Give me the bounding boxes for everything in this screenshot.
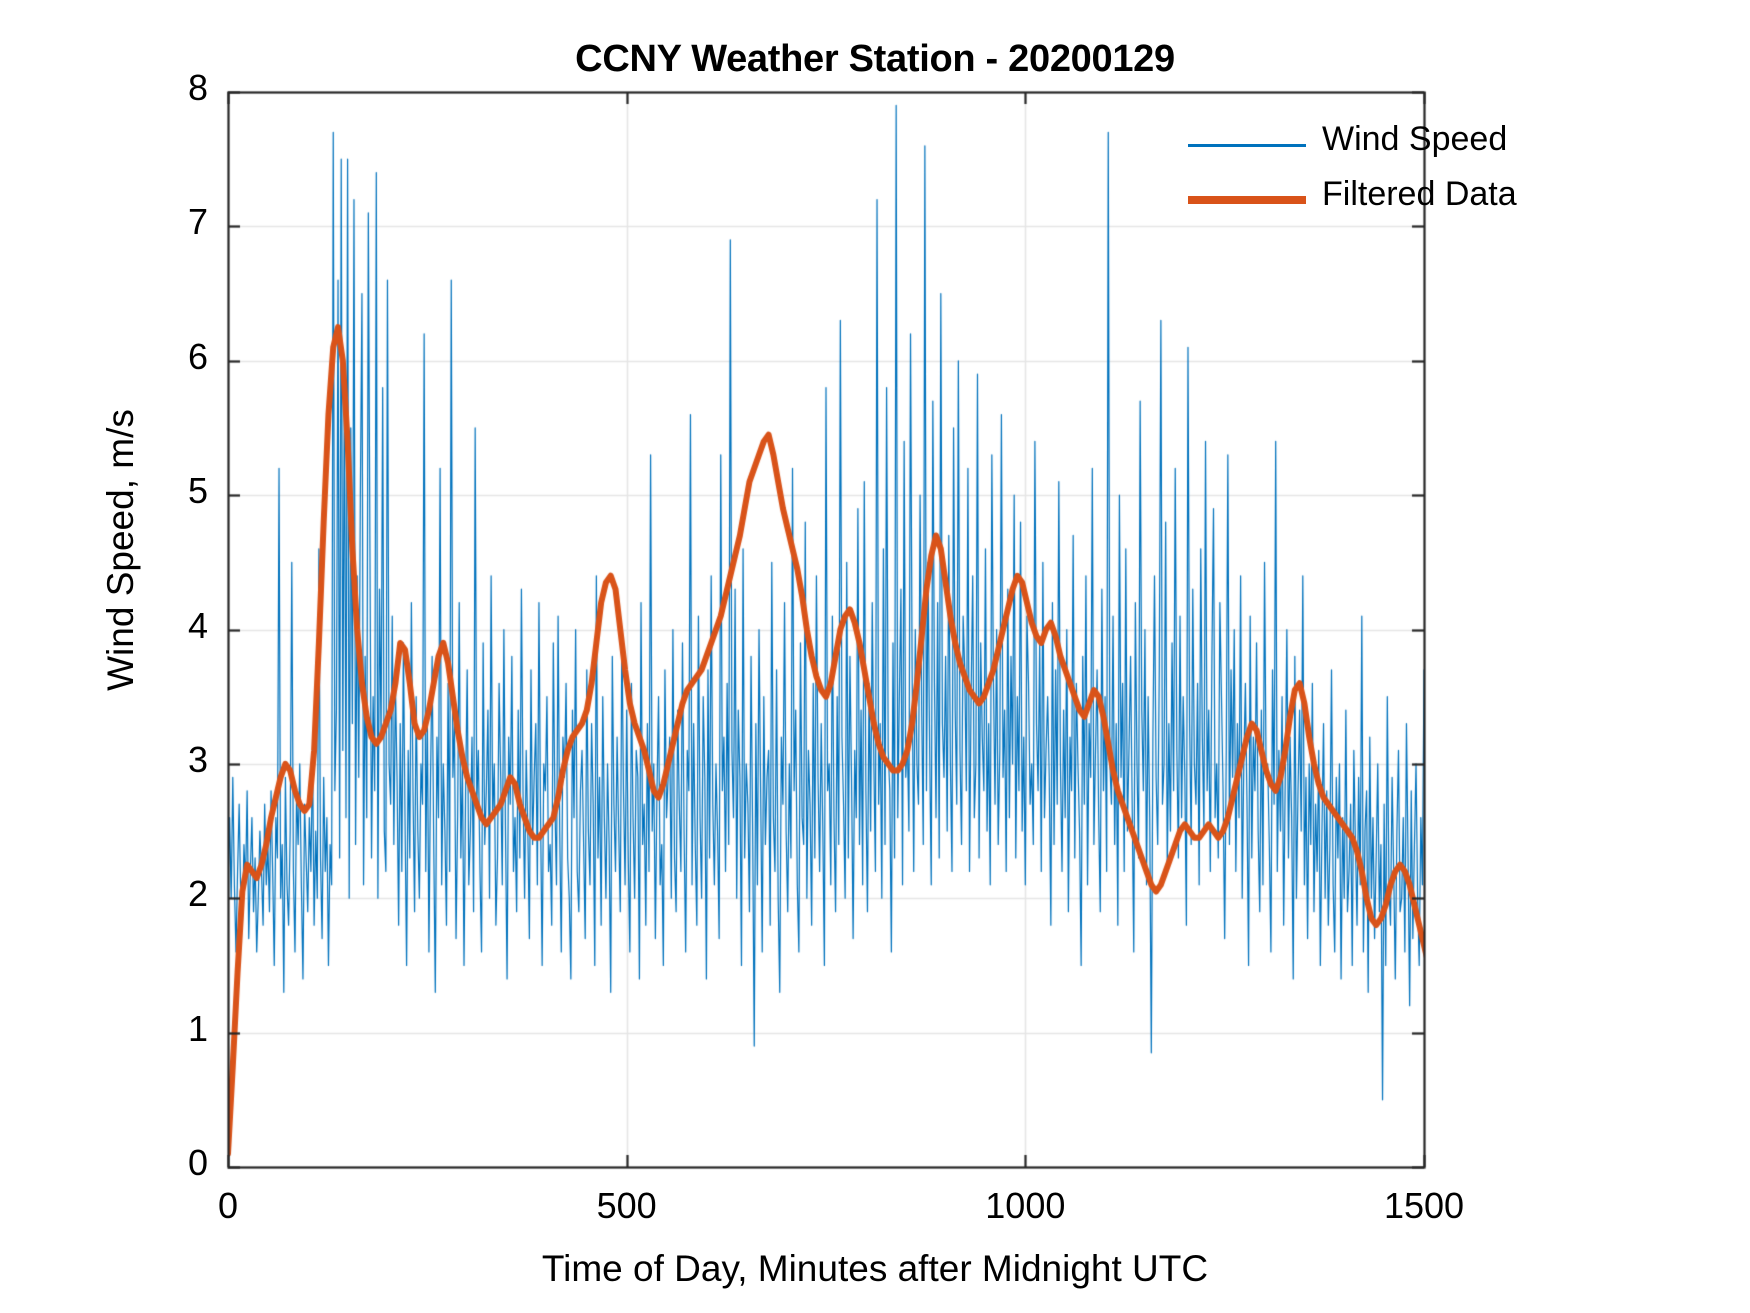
x-tick-label-0: 0 (128, 1185, 328, 1227)
x-tick-label-1500: 1500 (1324, 1185, 1524, 1227)
y-tick-label-5: 5 (146, 470, 208, 512)
y-tick-label-0: 0 (146, 1142, 208, 1184)
figure-container: CCNY Weather Station - 20200129 Time of … (0, 0, 1750, 1313)
y-tick-label-2: 2 (146, 873, 208, 915)
y-tick-label-3: 3 (146, 739, 208, 781)
y-tick-label-1: 1 (146, 1008, 208, 1050)
legend-swatch-wind-speed (1188, 144, 1306, 147)
y-tick-label-8: 8 (146, 67, 208, 109)
legend-label-filtered-data: Filtered Data (1322, 175, 1517, 214)
y-tick-label-6: 6 (146, 336, 208, 378)
y-tick-label-4: 4 (146, 605, 208, 647)
x-tick-label-1000: 1000 (925, 1185, 1125, 1227)
x-tick-label-500: 500 (527, 1185, 727, 1227)
page-title: CCNY Weather Station - 20200129 (0, 38, 1750, 81)
x-axis-label: Time of Day, Minutes after Midnight UTC (0, 1248, 1750, 1290)
legend-label-wind-speed: Wind Speed (1322, 120, 1507, 159)
legend-swatch-filtered-data (1188, 196, 1306, 204)
y-tick-label-7: 7 (146, 201, 208, 243)
y-axis-label: Wind Speed, m/s (100, 50, 142, 1050)
